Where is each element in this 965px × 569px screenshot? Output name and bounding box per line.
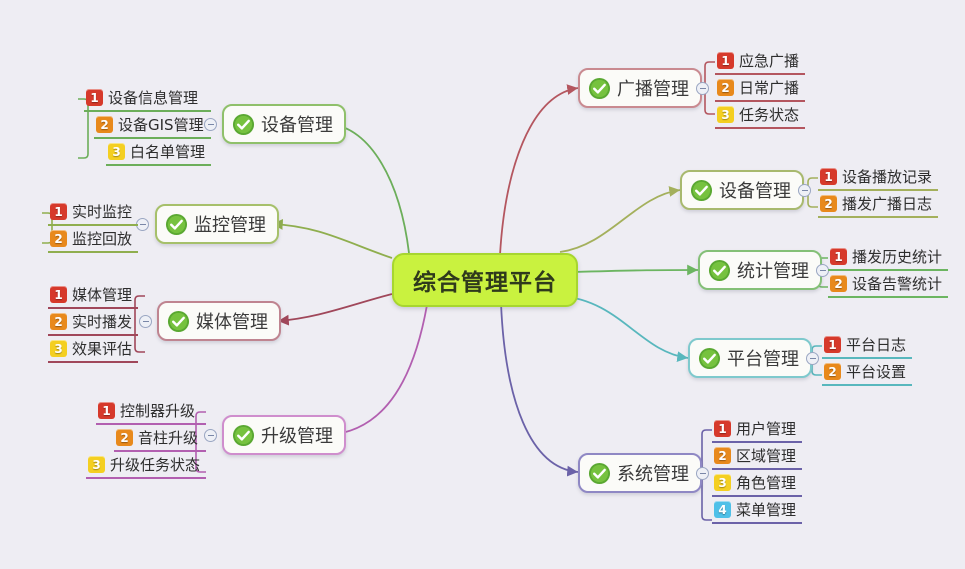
link-to-system-management (501, 303, 578, 472)
leaf-group-device-management-left: 1 设备信息管理 2 设备GIS管理 3 白名单管理 (88, 85, 211, 166)
collapse-toggle-broadcast-management[interactable] (696, 82, 709, 95)
check-circle-icon (698, 347, 721, 370)
branch-system-management[interactable]: 系统管理 (578, 453, 702, 493)
leaf-label: 平台设置 (846, 361, 906, 382)
leaf-item[interactable]: 1 控制器升级 (96, 398, 206, 425)
branch-label: 媒体管理 (196, 308, 268, 334)
check-circle-icon (690, 179, 713, 202)
leaf-label: 日常广播 (739, 77, 799, 98)
leaf-group-statistics-management: 1 播发历史统计 2 设备告警统计 (828, 244, 948, 298)
leaf-label: 设备播放记录 (842, 166, 932, 187)
branch-monitor-management[interactable]: 监控管理 (155, 204, 279, 244)
check-circle-icon (232, 113, 255, 136)
leaf-item[interactable]: 3 任务状态 (715, 102, 805, 129)
badge-number: 2 (116, 429, 133, 446)
badge-number: 1 (98, 402, 115, 419)
branch-device-management-left[interactable]: 设备管理 (222, 104, 346, 144)
leaf-item[interactable]: 2 设备GIS管理 (94, 112, 211, 139)
leaf-item[interactable]: 1 设备信息管理 (84, 85, 211, 112)
badge-number: 3 (108, 143, 125, 160)
leaf-item[interactable]: 1 设备播放记录 (818, 164, 938, 191)
leaf-group-system-management: 1 用户管理 2 区域管理 3 角色管理 4 菜单管理 (712, 416, 802, 524)
branch-label: 系统管理 (617, 460, 689, 486)
leaf-label: 白名单管理 (130, 141, 205, 162)
leaf-label: 监控回放 (72, 228, 132, 249)
link-to-monitor-management (272, 224, 392, 258)
leaf-label: 播发历史统计 (852, 246, 942, 267)
leaf-item[interactable]: 1 平台日志 (822, 332, 912, 359)
leaf-item[interactable]: 1 用户管理 (712, 416, 802, 443)
branch-statistics-management[interactable]: 统计管理 (698, 250, 822, 290)
leaf-label: 菜单管理 (736, 499, 796, 520)
check-circle-icon (165, 213, 188, 236)
check-circle-icon (588, 77, 611, 100)
leaf-label: 控制器升级 (120, 400, 195, 421)
leaf-label: 平台日志 (846, 334, 906, 355)
leaf-label: 媒体管理 (72, 284, 132, 305)
leaf-label: 任务状态 (739, 104, 799, 125)
mindmap-canvas: 综合管理平台 广播管理 1 应急广播 2 日常广播 3 任务状态 设备管理 (0, 0, 965, 569)
leaf-item[interactable]: 3 白名单管理 (106, 139, 211, 166)
badge-number: 2 (714, 447, 731, 464)
branch-label: 设备管理 (261, 111, 333, 137)
branch-platform-management[interactable]: 平台管理 (688, 338, 812, 378)
check-circle-icon (708, 259, 731, 282)
check-circle-icon (232, 424, 255, 447)
branch-media-management[interactable]: 媒体管理 (157, 301, 281, 341)
branch-label: 监控管理 (194, 211, 266, 237)
root-label: 综合管理平台 (413, 263, 557, 297)
link-to-device-management-right (560, 190, 680, 252)
badge-number: 4 (714, 501, 731, 518)
leaf-label: 实时播发 (72, 311, 132, 332)
badge-number: 3 (88, 456, 105, 473)
branch-label: 统计管理 (737, 257, 809, 283)
link-to-device-management-left (330, 124, 409, 253)
check-circle-icon (588, 462, 611, 485)
badge-number: 2 (50, 230, 67, 247)
badge-number: 1 (824, 336, 841, 353)
leaf-label: 升级任务状态 (110, 454, 200, 475)
leaf-item[interactable]: 1 实时监控 (48, 199, 138, 226)
leaf-group-platform-management: 1 平台日志 2 平台设置 (822, 332, 912, 386)
leaf-item[interactable]: 2 音柱升级 (114, 425, 206, 452)
badge-number: 1 (50, 203, 67, 220)
leaf-label: 角色管理 (736, 472, 796, 493)
branch-label: 设备管理 (719, 177, 791, 203)
branch-broadcast-management[interactable]: 广播管理 (578, 68, 702, 108)
leaf-group-broadcast-management: 1 应急广播 2 日常广播 3 任务状态 (715, 48, 805, 129)
leaf-label: 区域管理 (736, 445, 796, 466)
root-node[interactable]: 综合管理平台 (392, 253, 578, 307)
leaf-item[interactable]: 4 菜单管理 (712, 497, 802, 524)
leaf-item[interactable]: 2 日常广播 (715, 75, 805, 102)
badge-number: 3 (717, 106, 734, 123)
leaf-item[interactable]: 2 设备告警统计 (828, 271, 948, 298)
badge-number: 2 (96, 116, 113, 133)
leaf-item[interactable]: 3 效果评估 (48, 336, 138, 363)
leaf-item[interactable]: 2 区域管理 (712, 443, 802, 470)
badge-number: 2 (717, 79, 734, 96)
link-to-media-management (278, 294, 392, 321)
badge-number: 1 (717, 52, 734, 69)
leaf-group-upgrade-management: 1 控制器升级 2 音柱升级 3 升级任务状态 (96, 398, 206, 479)
leaf-item[interactable]: 1 媒体管理 (48, 282, 138, 309)
badge-number: 3 (714, 474, 731, 491)
leaf-item[interactable]: 2 监控回放 (48, 226, 138, 253)
leaf-item[interactable]: 2 播发广播日志 (818, 191, 938, 218)
badge-number: 3 (50, 340, 67, 357)
leaf-label: 应急广播 (739, 50, 799, 71)
branch-device-management-right[interactable]: 设备管理 (680, 170, 804, 210)
leaf-label: 音柱升级 (138, 427, 198, 448)
badge-number: 2 (830, 275, 847, 292)
badge-number: 2 (824, 363, 841, 380)
leaf-group-media-management: 1 媒体管理 2 实时播发 3 效果评估 (48, 282, 138, 363)
leaf-label: 设备信息管理 (108, 87, 198, 108)
check-circle-icon (167, 310, 190, 333)
leaf-label: 实时监控 (72, 201, 132, 222)
link-to-upgrade-management (328, 305, 427, 435)
link-to-broadcast-management (500, 88, 578, 255)
link-to-statistics-management (574, 270, 698, 272)
branch-upgrade-management[interactable]: 升级管理 (222, 415, 346, 455)
collapse-toggle-platform-management[interactable] (806, 352, 819, 365)
collapse-toggle-system-management[interactable] (696, 467, 709, 480)
leaf-label: 效果评估 (72, 338, 132, 359)
leaf-label: 设备告警统计 (852, 273, 942, 294)
branch-label: 平台管理 (727, 345, 799, 371)
leaf-item[interactable]: 3 角色管理 (712, 470, 802, 497)
leaf-label: 设备GIS管理 (118, 114, 204, 135)
badge-number: 1 (830, 248, 847, 265)
badge-number: 2 (820, 195, 837, 212)
leaf-label: 用户管理 (736, 418, 796, 439)
leaf-item[interactable]: 1 播发历史统计 (828, 244, 948, 271)
collapse-toggle-media-management[interactable] (139, 315, 152, 328)
leaf-item[interactable]: 2 实时播发 (48, 309, 138, 336)
leaf-group-device-management-right: 1 设备播放记录 2 播发广播日志 (818, 164, 938, 218)
leaf-item[interactable]: 3 升级任务状态 (86, 452, 206, 479)
branch-label: 广播管理 (617, 75, 689, 101)
badge-number: 1 (714, 420, 731, 437)
badge-number: 1 (50, 286, 67, 303)
leaf-group-monitor-management: 1 实时监控 2 监控回放 (52, 199, 138, 253)
badge-number: 2 (50, 313, 67, 330)
link-to-platform-management (560, 296, 688, 358)
leaf-label: 播发广播日志 (842, 193, 932, 214)
badge-number: 1 (86, 89, 103, 106)
collapse-toggle-device-management-right[interactable] (798, 184, 811, 197)
branch-label: 升级管理 (261, 422, 333, 448)
leaf-item[interactable]: 2 平台设置 (822, 359, 912, 386)
badge-number: 1 (820, 168, 837, 185)
leaf-item[interactable]: 1 应急广播 (715, 48, 805, 75)
